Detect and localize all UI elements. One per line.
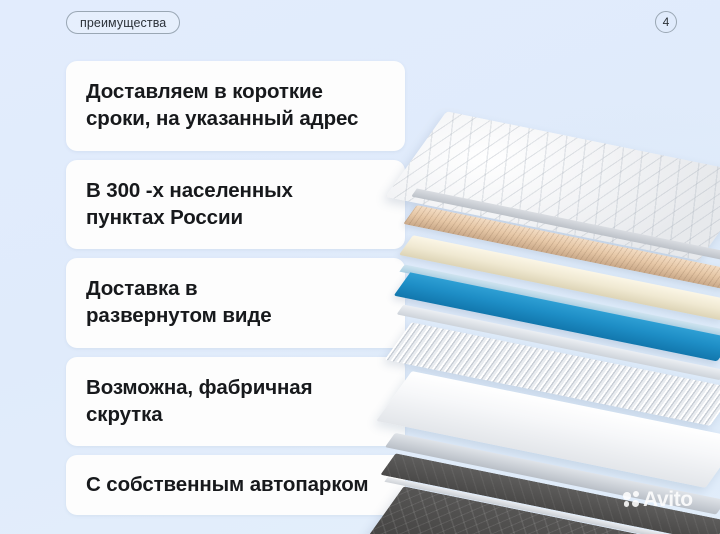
benefit-card: С собственным автопарком (66, 455, 405, 515)
benefit-card-text: В 300 -х населенных пунктах России (86, 177, 385, 232)
slide-root: преимущества 4 Доставляем в короткие сро… (0, 0, 720, 534)
category-tag-label: преимущества (80, 16, 166, 30)
top-bar: преимущества 4 (0, 0, 720, 48)
benefit-card: Доставка в развернутом виде (66, 258, 405, 348)
avito-watermark: Avito (623, 489, 693, 510)
avito-logo-dot (624, 501, 630, 507)
benefit-card: Доставляем в короткие сроки, на указанны… (66, 61, 405, 151)
benefit-card-text: Возможна, фабричная скрутка (86, 374, 385, 429)
benefit-card-text: Доставка в развернутом виде (86, 275, 385, 330)
benefit-card: В 300 -х населенных пунктах России (66, 160, 405, 250)
avito-logo-dot (623, 492, 631, 500)
mattress-cross-section-image (398, 96, 720, 516)
benefit-card-text: Доставляем в короткие сроки, на указанны… (86, 78, 385, 133)
page-number-badge: 4 (655, 11, 677, 33)
benefit-card-text: С собственным автопарком (86, 471, 385, 498)
category-tag-pill: преимущества (66, 11, 180, 34)
avito-wordmark: Avito (643, 489, 693, 510)
avito-logo-dot (632, 500, 639, 507)
benefit-card-list: Доставляем в короткие сроки, на указанны… (66, 61, 405, 515)
benefit-card: Возможна, фабричная скрутка (66, 357, 405, 447)
avito-logo-icon (623, 491, 640, 508)
avito-logo-dot (633, 491, 639, 497)
page-number-label: 4 (663, 15, 670, 29)
